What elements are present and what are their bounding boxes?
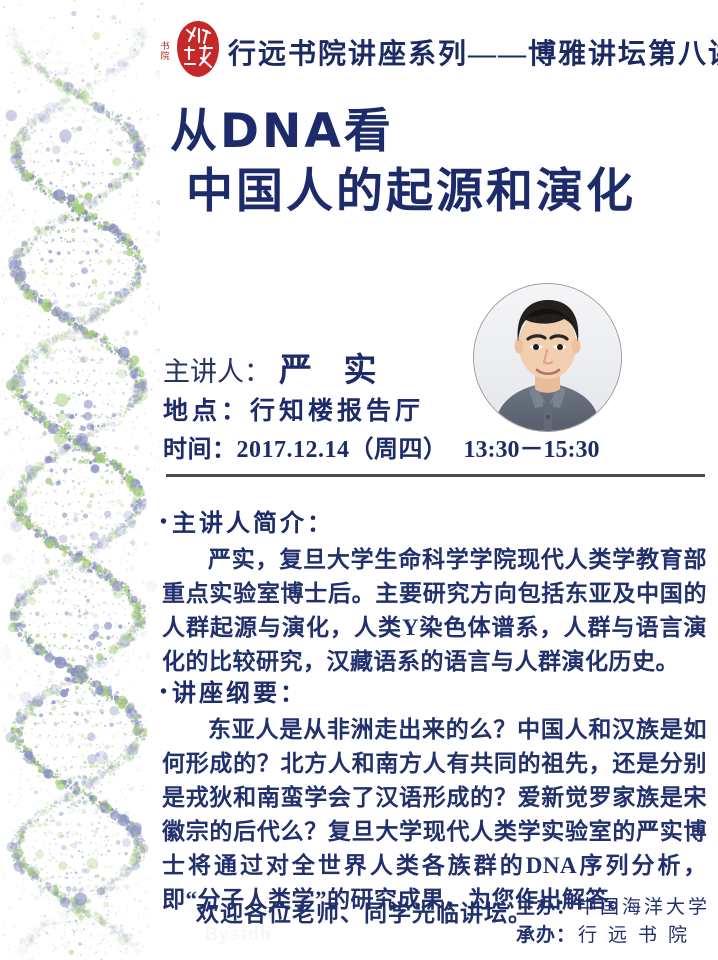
- organizers-block: 主办： 中国海洋大学 承办： 行远书院: [516, 894, 712, 950]
- event-info: 主讲人：严 实 地点：行知楼报告厅 时间：2017.12.14（周四）13:30…: [163, 352, 583, 470]
- title-line-1: 从DNA看: [160, 103, 705, 161]
- organizer-value: 行远书院: [578, 922, 698, 950]
- bullet-icon: •: [160, 681, 170, 703]
- organizer-label: 承办：: [516, 922, 576, 950]
- venue-label: 地点：: [163, 398, 250, 425]
- bio-heading: •主讲人简介：: [160, 503, 334, 538]
- institution-seal: 书院: [157, 20, 233, 78]
- time-range: 13:30－15:30: [464, 437, 600, 463]
- seal-stamp-icon: [174, 20, 222, 78]
- seal-side-label: 书院: [157, 41, 173, 61]
- outline-paragraph: 东亚人是从非洲走出来的么？中国人和汉族是如何形成的？北方人和南方人有共同的祖先，…: [162, 713, 707, 917]
- page-title: 从DNA看 中国人的起源和演化: [160, 103, 705, 223]
- bio-paragraph: 严实，复旦大学生命科学学院现代人类学教育部重点实验室博士后。主要研究方向包括东亚…: [162, 543, 707, 679]
- title-line-2: 中国人的起源和演化: [160, 161, 705, 223]
- section-divider: [166, 474, 705, 477]
- host-row: 主办： 中国海洋大学: [516, 894, 712, 922]
- host-label: 主办：: [516, 894, 576, 922]
- venue-value: 行知楼报告厅: [250, 398, 424, 425]
- watermark-text: Bystdh: [205, 924, 272, 945]
- outline-heading: •讲座纲要：: [160, 673, 307, 708]
- venue-row: 地点：行知楼报告厅: [163, 394, 583, 430]
- time-date: 2017.12.14（周四）: [237, 437, 448, 463]
- bio-heading-label: 主讲人简介：: [172, 511, 334, 537]
- lecture-poster: 书院 行远书院讲座系列——博雅讲坛第: [0, 0, 718, 960]
- outline-body: 东亚人是从非洲走出来的么？中国人和汉族是如何形成的？北方人和南方人有共同的祖先，…: [162, 713, 707, 917]
- time-label: 时间：: [163, 437, 237, 463]
- speaker-label: 主讲人：: [163, 357, 271, 388]
- bio-body: 严实，复旦大学生命科学学院现代人类学教育部重点实验室博士后。主要研究方向包括东亚…: [162, 543, 707, 679]
- host-value: 中国海洋大学: [578, 894, 710, 922]
- welcome-text: 欢迎各位老师、同学光临讲坛。: [196, 894, 532, 928]
- series-title: 行远书院讲座系列——博雅讲坛第八讲: [228, 32, 718, 72]
- organizer-row: 承办： 行远书院: [516, 922, 712, 950]
- dna-helix-decoration: [0, 0, 160, 960]
- poster-header: 书院 行远书院讲座系列——博雅讲坛第: [0, 16, 718, 78]
- bullet-icon: •: [160, 511, 170, 533]
- speaker-row: 主讲人：严 实: [163, 352, 583, 391]
- speaker-name: 严 实: [279, 350, 387, 389]
- outline-heading-label: 讲座纲要：: [172, 681, 307, 707]
- time-row: 时间：2017.12.14（周四）13:30－15:30: [163, 433, 583, 467]
